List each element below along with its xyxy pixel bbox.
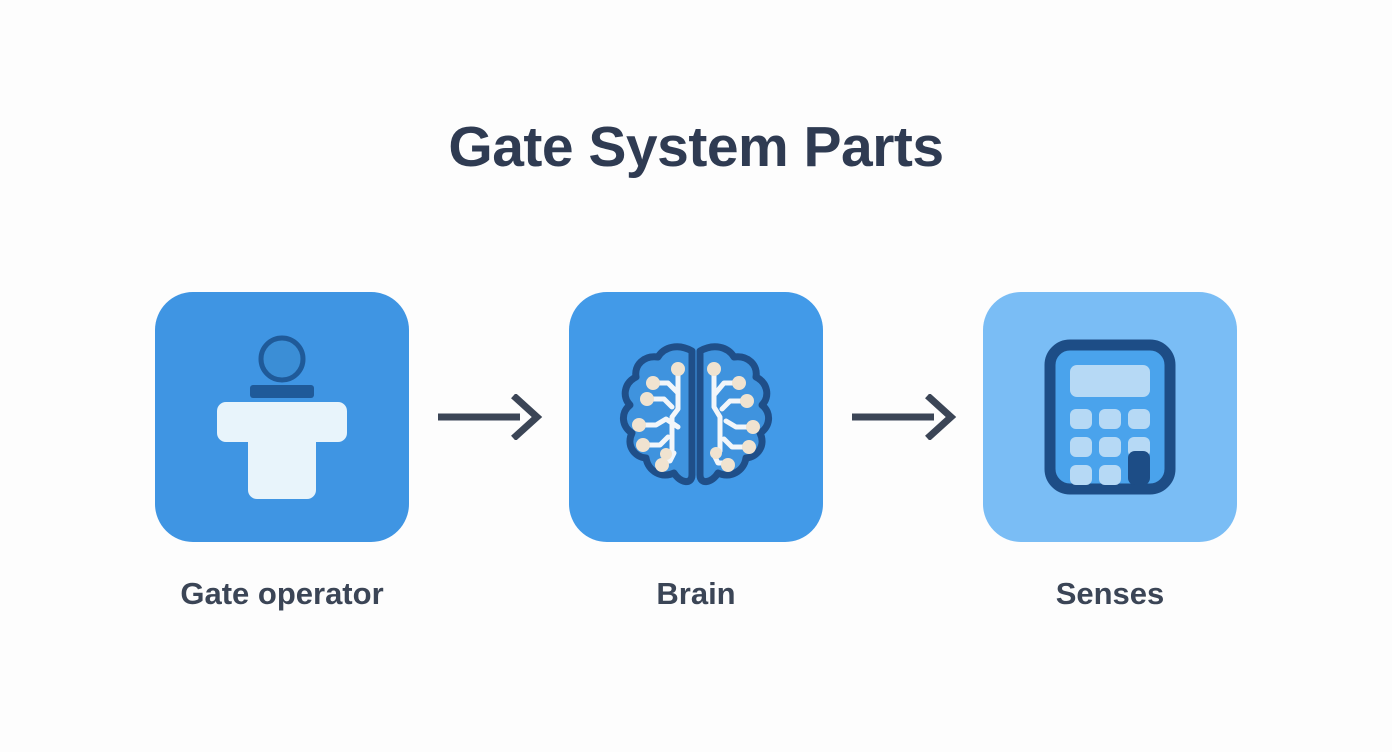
- card-senses[interactable]: [983, 292, 1237, 542]
- step-label-brain: Brain: [656, 576, 735, 612]
- infographic-canvas: Gate System Parts Gate operator: [0, 0, 1392, 752]
- flow-step-senses[interactable]: Senses: [983, 292, 1237, 612]
- connector-arrow-2: [823, 292, 983, 542]
- podium-speaker-icon: [212, 332, 352, 502]
- card-gate-operator[interactable]: [155, 292, 409, 542]
- flow-diagram: Gate operator: [0, 292, 1392, 622]
- page-title: Gate System Parts: [0, 116, 1392, 179]
- step-label-senses: Senses: [1056, 576, 1165, 612]
- flow-step-gate-operator[interactable]: Gate operator: [155, 292, 409, 612]
- flow-step-brain[interactable]: Brain: [569, 292, 823, 612]
- calculator-icon: [1044, 339, 1176, 495]
- step-label-gate-operator: Gate operator: [180, 576, 383, 612]
- connector-arrow-1: [409, 292, 569, 542]
- card-brain[interactable]: [569, 292, 823, 542]
- brain-circuit-icon: [616, 339, 776, 495]
